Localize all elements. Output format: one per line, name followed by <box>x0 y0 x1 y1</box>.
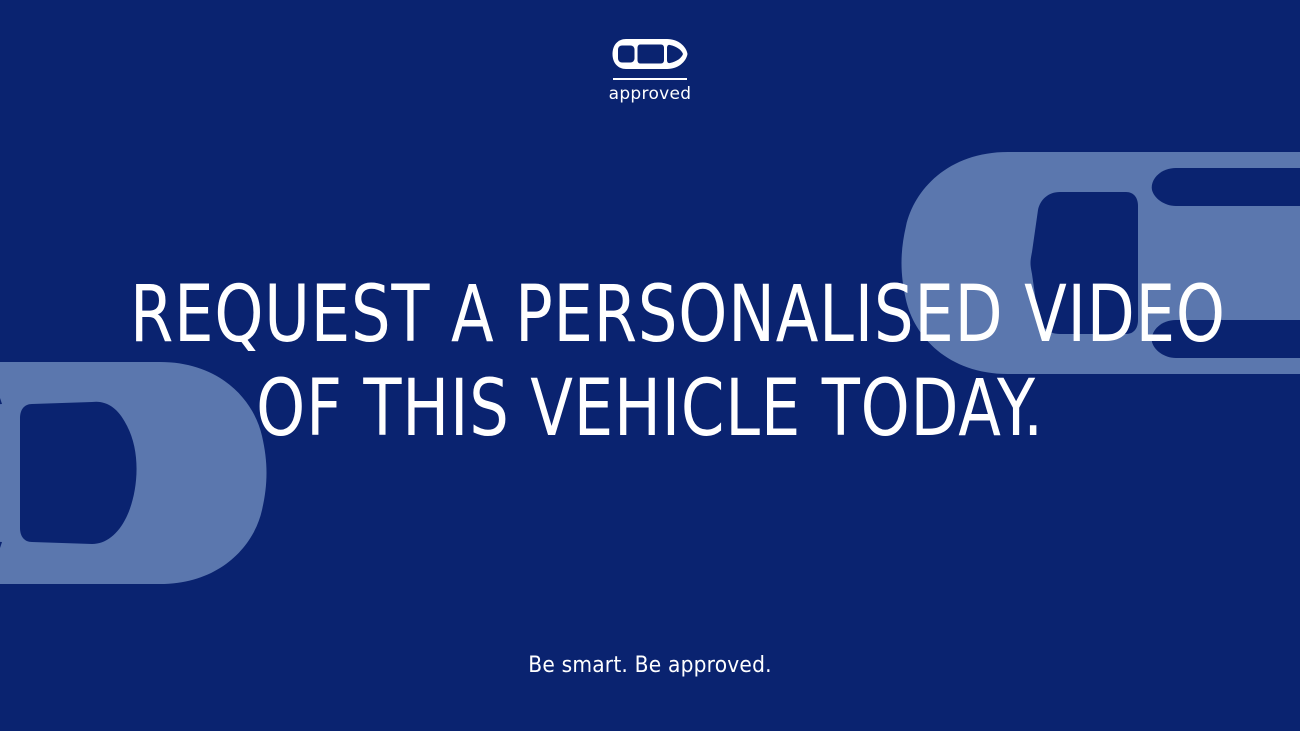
page-title: REQUEST A PERSONALISED VIDEO OF THIS VEH… <box>0 268 1300 456</box>
promo-banner: approved REQUEST A PERSONALISED VIDEO OF… <box>0 0 1300 731</box>
headline-line-2: OF THIS VEHICLE TODAY. <box>130 362 1170 456</box>
logo-divider <box>613 78 687 80</box>
brand-logo: approved <box>0 38 1300 104</box>
tagline: Be smart. Be approved. <box>52 653 1248 678</box>
headline-line-1: REQUEST A PERSONALISED VIDEO <box>130 268 1170 362</box>
brand-wordmark: approved <box>609 85 692 104</box>
car-top-view-icon <box>611 38 689 70</box>
